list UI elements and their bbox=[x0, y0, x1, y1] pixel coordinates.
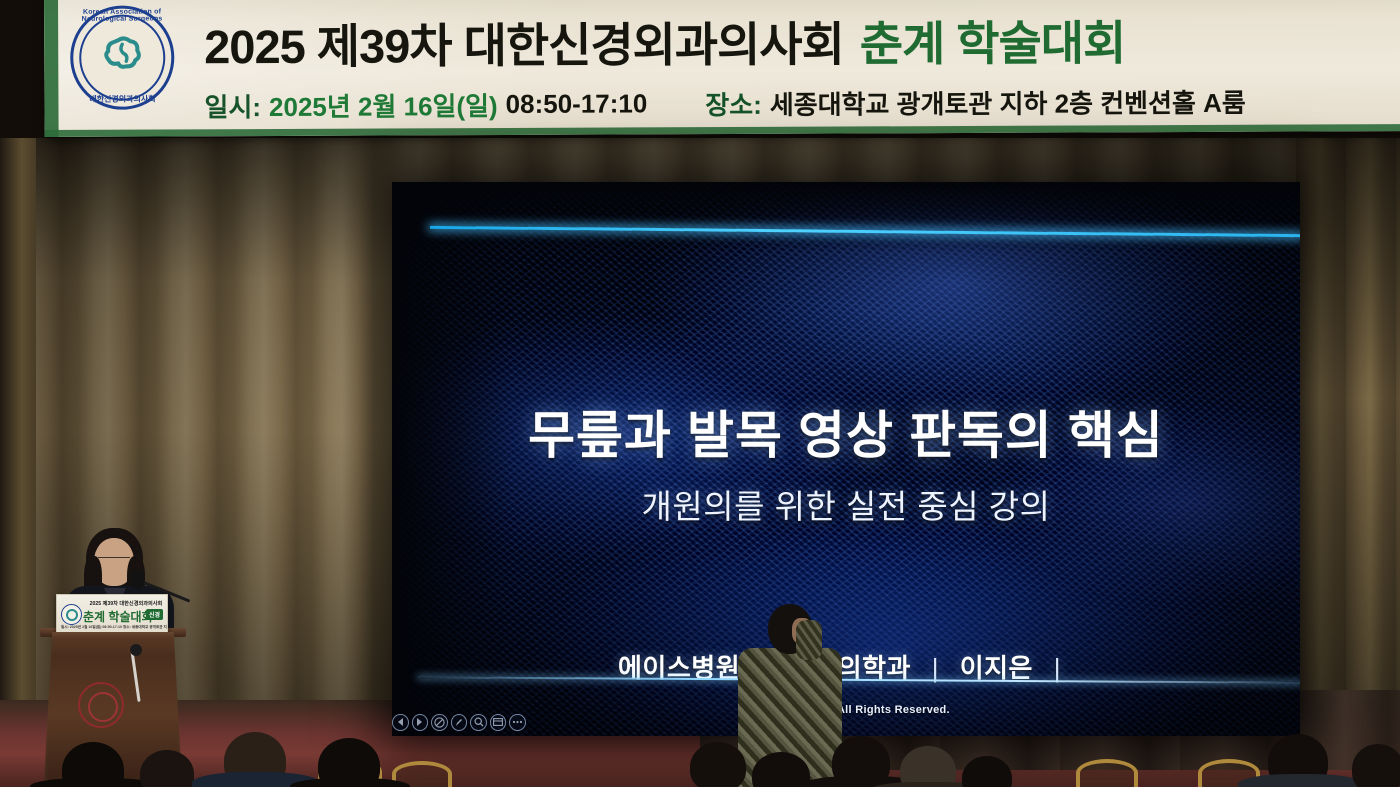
chair-back bbox=[1076, 759, 1138, 787]
conference-hall-photo: Korean Association of Neurological Surge… bbox=[0, 0, 1400, 787]
zoom-magnifier-button[interactable] bbox=[470, 714, 487, 731]
banner-left-stripe bbox=[44, 0, 59, 137]
podium-microphone-head-icon bbox=[130, 644, 142, 656]
pen-annotation-button[interactable] bbox=[431, 714, 448, 731]
banner-place-value: 세종대학교 광개토관 지하 2층 컨벤션홀 A룸 bbox=[770, 82, 1246, 121]
pointer-options-button[interactable] bbox=[451, 714, 468, 731]
banner-title-highlight: 춘계 학술대회 bbox=[860, 4, 1126, 74]
audience-shoulders bbox=[290, 778, 410, 787]
slide-title: 무릎과 발목 영상 판독의 핵심 bbox=[392, 394, 1300, 468]
speaker-glasses bbox=[98, 557, 130, 564]
banner-time-value: 08:50-17:10 bbox=[506, 88, 648, 120]
podium-sign-badge: 신경 bbox=[146, 609, 163, 620]
banner-title-main: 2025 제39차 대한신경외과의사회 bbox=[204, 5, 844, 77]
previous-slide-button[interactable] bbox=[392, 714, 409, 731]
banner-place-label: 장소: bbox=[705, 84, 762, 121]
audience-shoulders bbox=[1238, 774, 1364, 787]
banner-date-label: 일시: bbox=[204, 87, 261, 124]
podium-sign-emblem bbox=[61, 604, 82, 625]
more-options-button[interactable] bbox=[509, 714, 526, 731]
attendee-raised-arm bbox=[796, 620, 822, 660]
banner-date-value: 2025년 2월 16일(일) bbox=[269, 86, 498, 124]
slide-navigator-button[interactable] bbox=[490, 714, 507, 731]
podium-sign-line3: 일시: 2025년 2월 16일(일) 08:50-17:10 장소: 세종대학… bbox=[61, 625, 165, 630]
audience-head bbox=[690, 742, 746, 787]
emblem-top-text: Korean Association of Neurological Surge… bbox=[70, 8, 174, 22]
slide-subtitle: 개원의를 위한 실전 중심 강의 bbox=[392, 480, 1300, 528]
next-slide-button[interactable] bbox=[412, 714, 429, 731]
credit-separator-3: | bbox=[1054, 653, 1061, 683]
association-emblem: Korean Association of Neurological Surge… bbox=[70, 5, 174, 109]
brain-icon bbox=[99, 34, 145, 79]
audience-head bbox=[1352, 744, 1400, 787]
credit-presenter: 이지은 bbox=[960, 653, 1033, 683]
conference-banner: Korean Association of Neurological Surge… bbox=[44, 0, 1400, 137]
podium-group: 2025 제39차 대한신경외과의사회 춘계 학술대회 신경 일시: 2025년… bbox=[26, 520, 216, 787]
banner-title: 2025 제39차 대한신경외과의사회 춘계 학술대회 bbox=[204, 0, 1394, 81]
podium-sign: 2025 제39차 대한신경외과의사회 춘계 학술대회 신경 일시: 2025년… bbox=[56, 594, 168, 634]
powerpoint-slideshow-controls[interactable] bbox=[392, 710, 526, 734]
podium-seal-emblem bbox=[78, 682, 124, 728]
banner-subtitle: 일시: 2025년 2월 16일(일) 08:50-17:10 장소: 세종대학… bbox=[204, 78, 1394, 127]
slide-copyright: MRI Jee Eun Lee All Rights Reserved. bbox=[392, 704, 1300, 716]
podium-sign-line1: 2025 제39차 대한신경외과의사회 bbox=[85, 600, 167, 607]
podium-sign-line2: 춘계 학술대회 bbox=[83, 608, 151, 625]
projection-screen: 무릎과 발목 영상 판독의 핵심 개원의를 위한 실전 중심 강의 에이스병원 … bbox=[392, 182, 1300, 736]
emblem-bottom-text: 대한신경외과의사회 bbox=[70, 93, 174, 104]
microphone-head-icon bbox=[131, 570, 144, 589]
